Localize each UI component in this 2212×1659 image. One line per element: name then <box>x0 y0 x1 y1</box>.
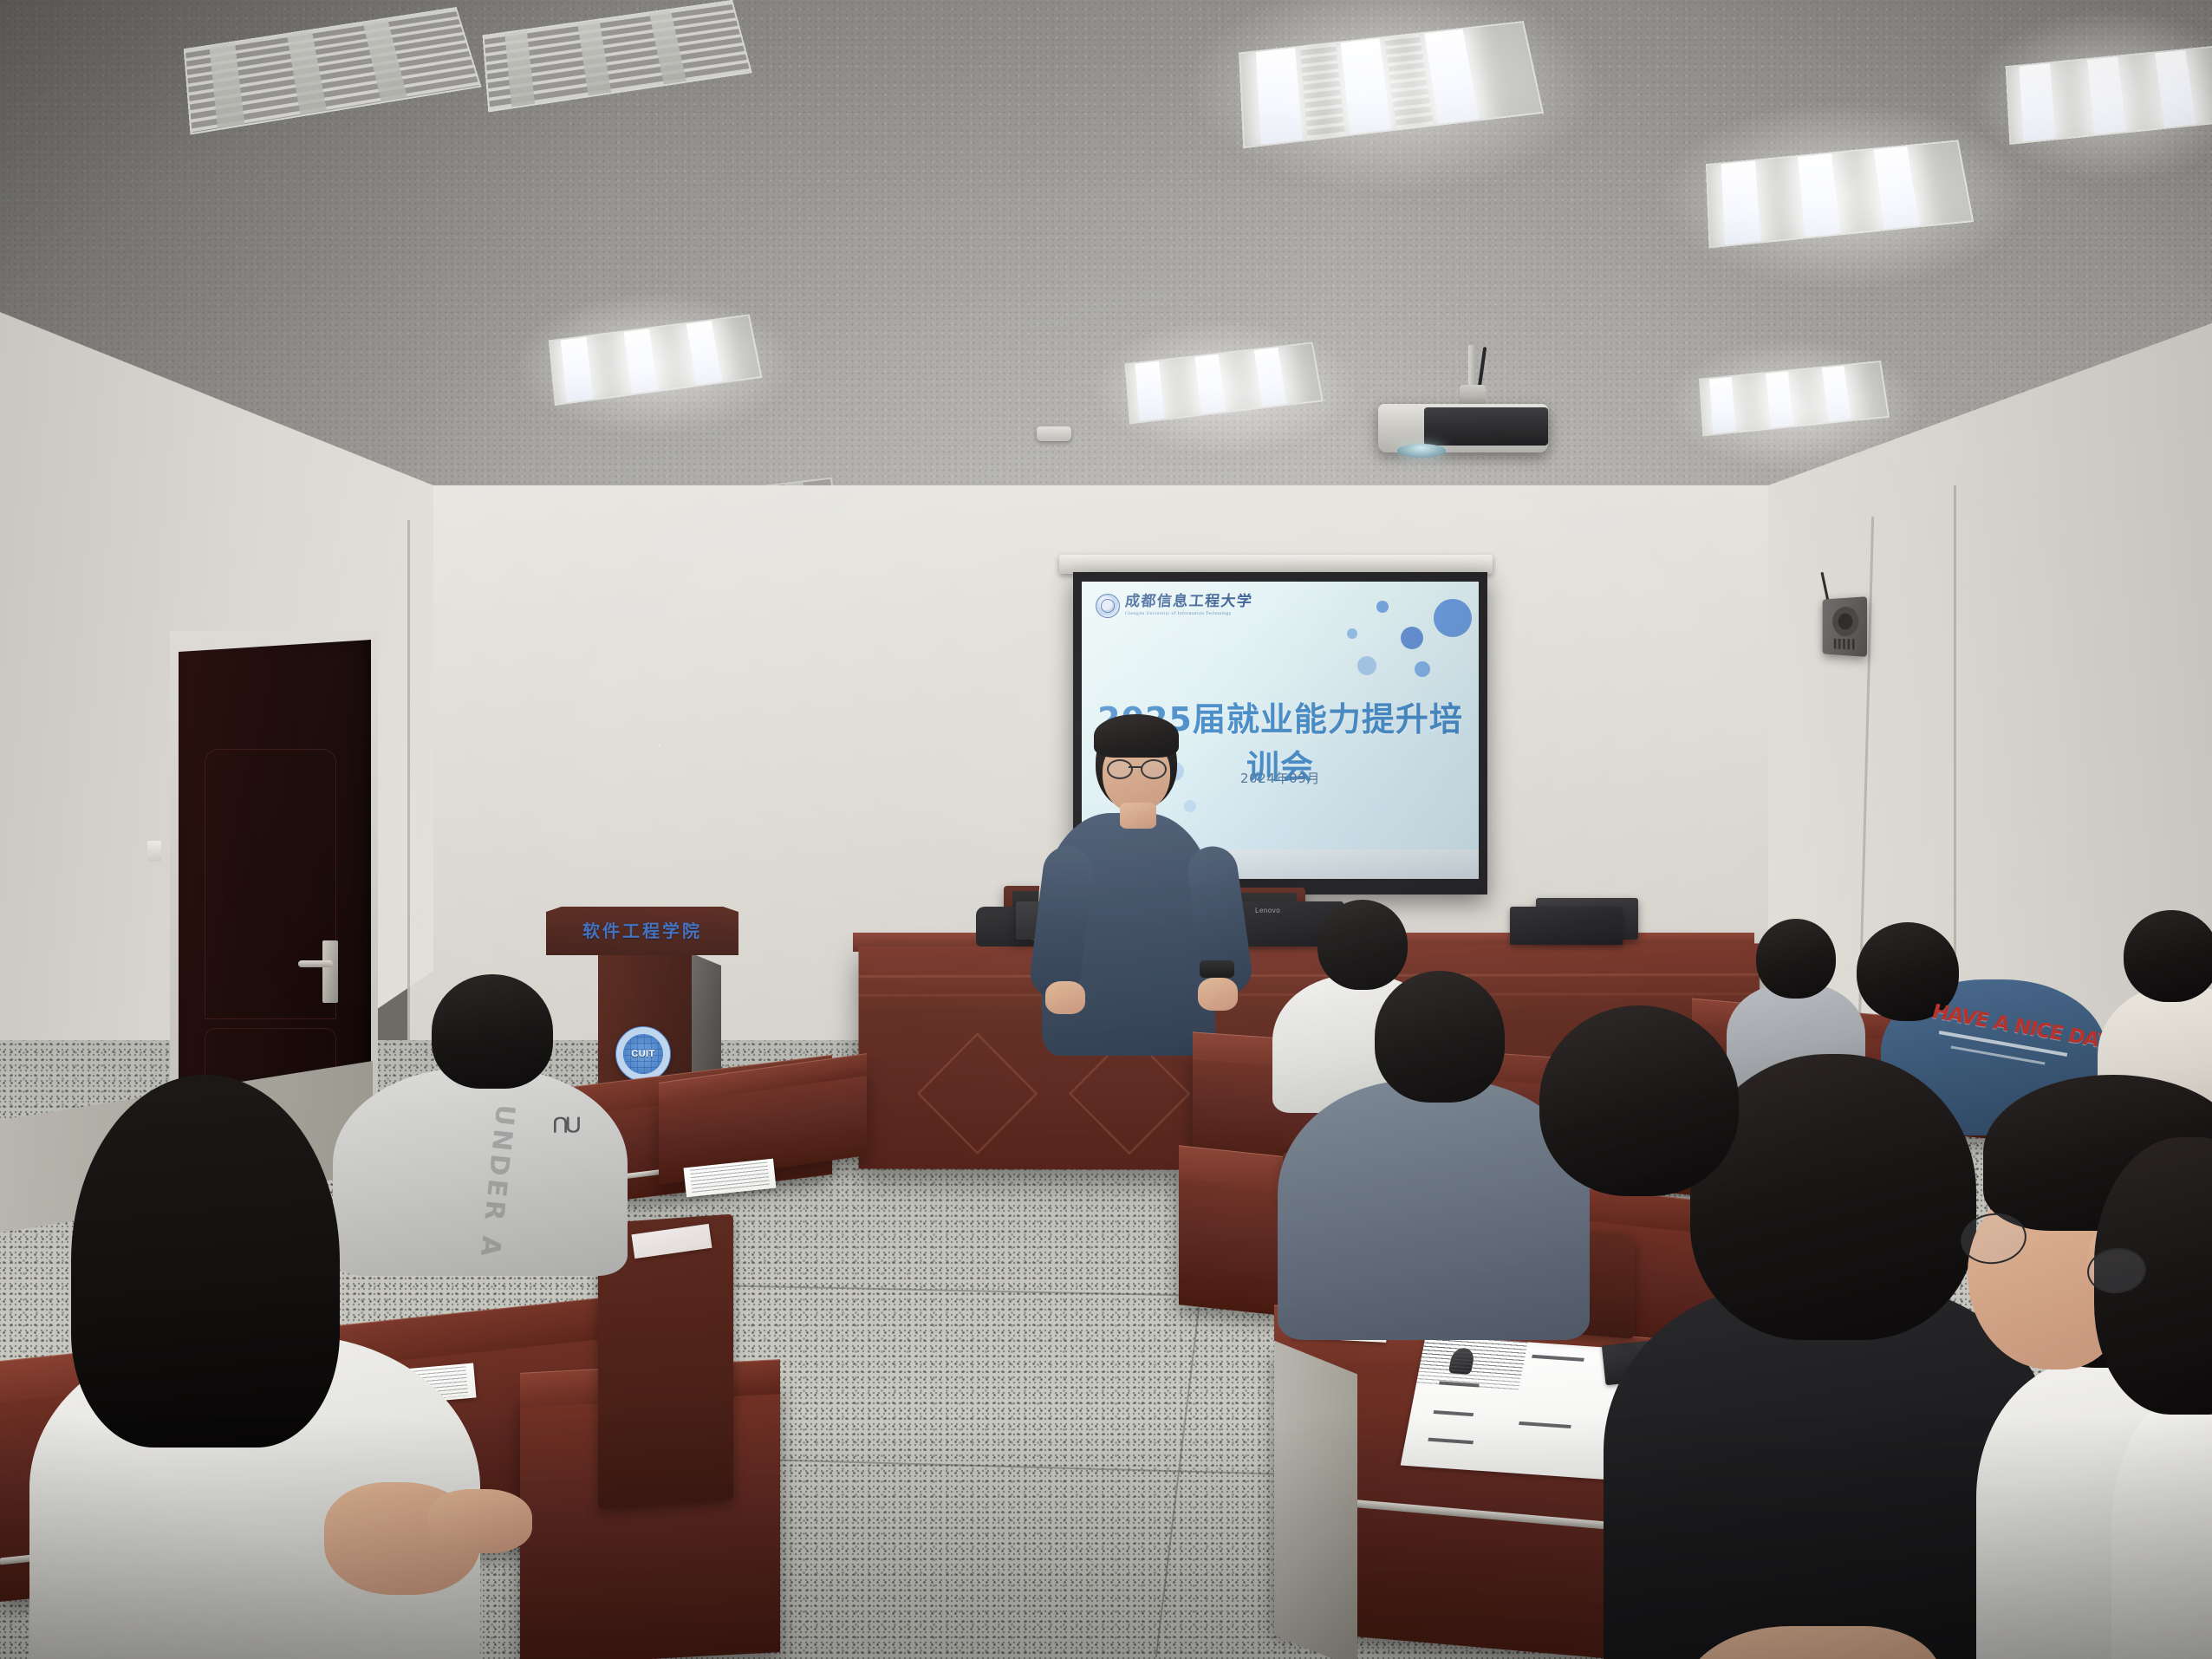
speaker-cone-icon <box>1832 606 1858 636</box>
projector-panel <box>1424 407 1548 446</box>
university-seal-icon <box>1096 594 1120 618</box>
laptop[interactable] <box>1510 907 1623 945</box>
resume-section-heading <box>1519 1422 1571 1428</box>
presenter-hand-right <box>1198 978 1238 1011</box>
wall-seam <box>407 520 410 1109</box>
decorative-bubble <box>1347 628 1357 639</box>
decorative-bubble <box>1415 661 1430 677</box>
student-head <box>432 974 553 1089</box>
light-switch[interactable] <box>147 841 161 862</box>
smoke-detector-icon <box>1037 426 1071 441</box>
classroom-scene: 成都信息工程大学 Chengdu University of Informati… <box>0 0 2212 1659</box>
presenter-hand-left <box>1045 981 1085 1014</box>
university-logo: 成都信息工程大学 Chengdu University of Informati… <box>1096 594 1252 618</box>
speaker-vent <box>1834 639 1857 650</box>
door-handle[interactable] <box>298 960 333 967</box>
university-name-en: Chengdu University of Information Techno… <box>1125 612 1252 616</box>
presenter-hair <box>1094 714 1179 758</box>
presenter-neck <box>1120 803 1156 829</box>
glasses-bridge <box>1129 766 1142 768</box>
resume-section-heading <box>1428 1438 1474 1445</box>
classroom-door[interactable] <box>179 640 371 1113</box>
student-hair <box>71 1075 340 1448</box>
presenter-glasses <box>1141 759 1167 779</box>
student-head <box>1317 900 1408 990</box>
door-panel <box>205 749 336 1019</box>
student-head <box>1375 971 1505 1103</box>
table-panel-detail <box>917 1033 1038 1155</box>
table-molding <box>859 973 1760 978</box>
projector-lens-icon <box>1397 444 1446 458</box>
wall-scuff-marks <box>659 617 1144 747</box>
wall-speaker <box>1823 596 1867 657</box>
cuit-emblem-label: CUIT <box>631 1049 654 1059</box>
under-armour-logo-icon: ⋂⋃ <box>553 1113 579 1134</box>
student-torso <box>333 1068 628 1276</box>
student-hand <box>428 1489 532 1553</box>
student-head <box>1756 919 1836 999</box>
projection-screen-case <box>1059 555 1493 574</box>
cuit-emblem: CUIT <box>615 1026 671 1082</box>
decorative-bubble <box>1434 599 1472 637</box>
presenter-glasses <box>1107 759 1133 779</box>
decorative-bubble <box>1357 656 1376 675</box>
decorative-bubble <box>1376 601 1389 613</box>
decorative-bubble <box>1184 800 1196 812</box>
presenter-watch <box>1200 960 1234 978</box>
university-name-cn: 成都信息工程大学 <box>1124 595 1253 609</box>
student-head <box>1539 1005 1739 1196</box>
desk-side-panel <box>1274 1341 1357 1659</box>
resume-section-heading <box>1532 1355 1584 1362</box>
student-head <box>1857 922 1959 1021</box>
laptop-brand-label: Lenovo <box>1255 907 1280 914</box>
door-lock-plate[interactable] <box>322 940 338 1003</box>
projector-mount <box>1468 345 1476 390</box>
student-head <box>2124 910 2212 1002</box>
podium-label: 软件工程学院 <box>546 917 738 942</box>
decorative-bubble <box>1401 627 1423 649</box>
paper-text-lines <box>690 1161 770 1194</box>
resume-section-heading <box>1434 1410 1474 1416</box>
